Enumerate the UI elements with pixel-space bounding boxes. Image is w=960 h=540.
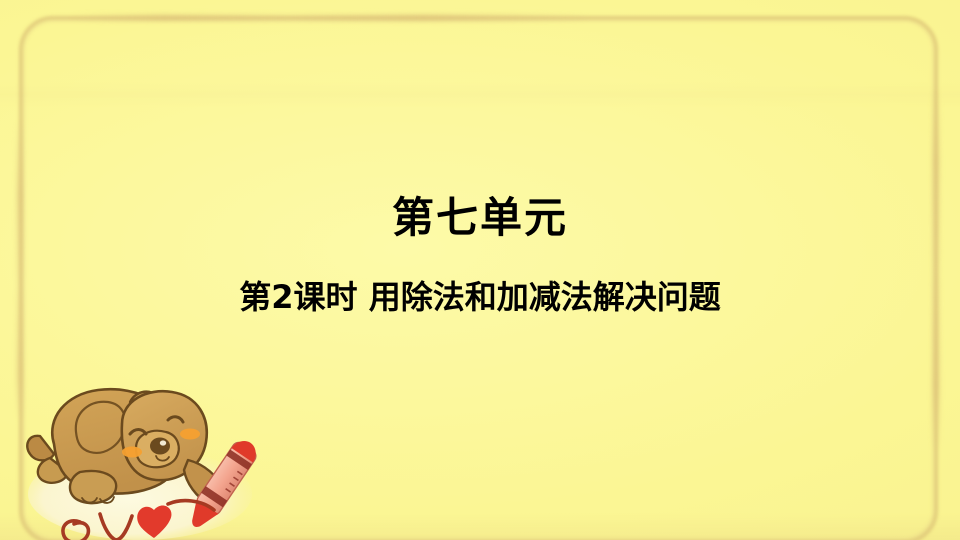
bear-illustration <box>18 372 288 540</box>
bear-nose-highlight <box>160 440 166 445</box>
frame-stroke-right <box>932 90 940 450</box>
page-subtitle: 第2课时 用除法和加减法解决问题 <box>0 276 960 318</box>
bear-blush-left <box>122 447 142 458</box>
bear-tail <box>27 436 54 461</box>
bear-nose <box>150 438 170 455</box>
frame-stroke-top <box>70 14 590 21</box>
page-title: 第七单元 <box>0 193 960 243</box>
presentation-slide: 第七单元 第2课时 用除法和加减法解决问题 <box>0 0 960 540</box>
bear-front-paw <box>70 471 116 503</box>
bear-blush-right <box>180 429 200 440</box>
